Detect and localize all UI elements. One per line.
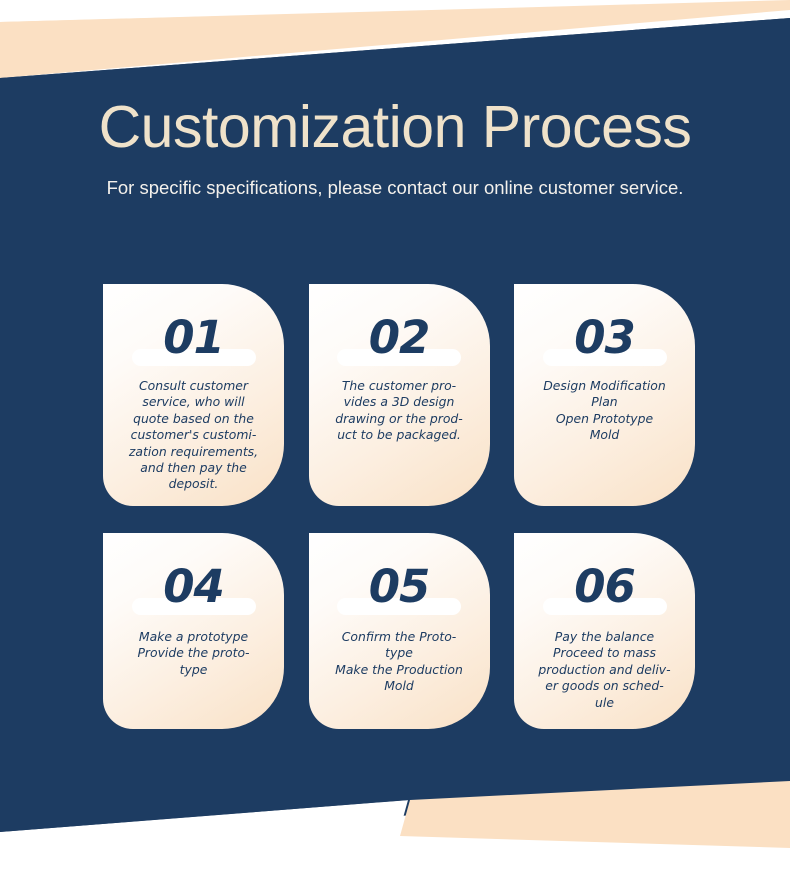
step-card-01[interactable]: 01 Consult customer service, who will qu… <box>103 284 284 506</box>
step-number: 05 <box>369 564 430 609</box>
steps-grid: 01 Consult customer service, who will qu… <box>103 284 695 729</box>
step-number: 06 <box>574 564 635 609</box>
step-number-wrap: 06 <box>523 555 686 617</box>
infographic-canvas: Customization Process For specific speci… <box>0 0 790 873</box>
step-card-04[interactable]: 04 Make a prototype Provide the proto- t… <box>103 533 284 729</box>
step-description: Confirm the Proto- type Make the Product… <box>331 629 467 695</box>
step-number: 01 <box>163 315 224 360</box>
step-card-02[interactable]: 02 The customer pro- vides a 3D design d… <box>309 284 490 506</box>
step-number-wrap: 01 <box>112 306 275 368</box>
step-description: Make a prototype Provide the proto- type <box>133 629 253 678</box>
step-description: Consult customer service, who will quote… <box>125 378 262 493</box>
step-number-wrap: 03 <box>523 306 686 368</box>
page-title: Customization Process <box>0 96 790 159</box>
step-card-06[interactable]: 06 Pay the balance Proceed to mass produ… <box>514 533 695 729</box>
steps-row-1: 01 Consult customer service, who will qu… <box>103 284 695 506</box>
step-description: Design Modification Plan Open Prototype … <box>539 378 669 444</box>
step-number-wrap: 04 <box>112 555 275 617</box>
header: Customization Process For specific speci… <box>0 96 790 199</box>
step-number-wrap: 05 <box>318 555 481 617</box>
step-number: 02 <box>369 315 430 360</box>
step-card-05[interactable]: 05 Confirm the Proto- type Make the Prod… <box>309 533 490 729</box>
step-description: Pay the balance Proceed to mass producti… <box>534 629 674 711</box>
step-number-wrap: 02 <box>318 306 481 368</box>
step-number: 04 <box>163 564 224 609</box>
page-subtitle: For specific specifications, please cont… <box>0 177 790 199</box>
step-card-03[interactable]: 03 Design Modification Plan Open Prototy… <box>514 284 695 506</box>
step-number: 03 <box>574 315 635 360</box>
step-description: The customer pro- vides a 3D design draw… <box>331 378 467 444</box>
steps-row-2: 04 Make a prototype Provide the proto- t… <box>103 533 695 729</box>
